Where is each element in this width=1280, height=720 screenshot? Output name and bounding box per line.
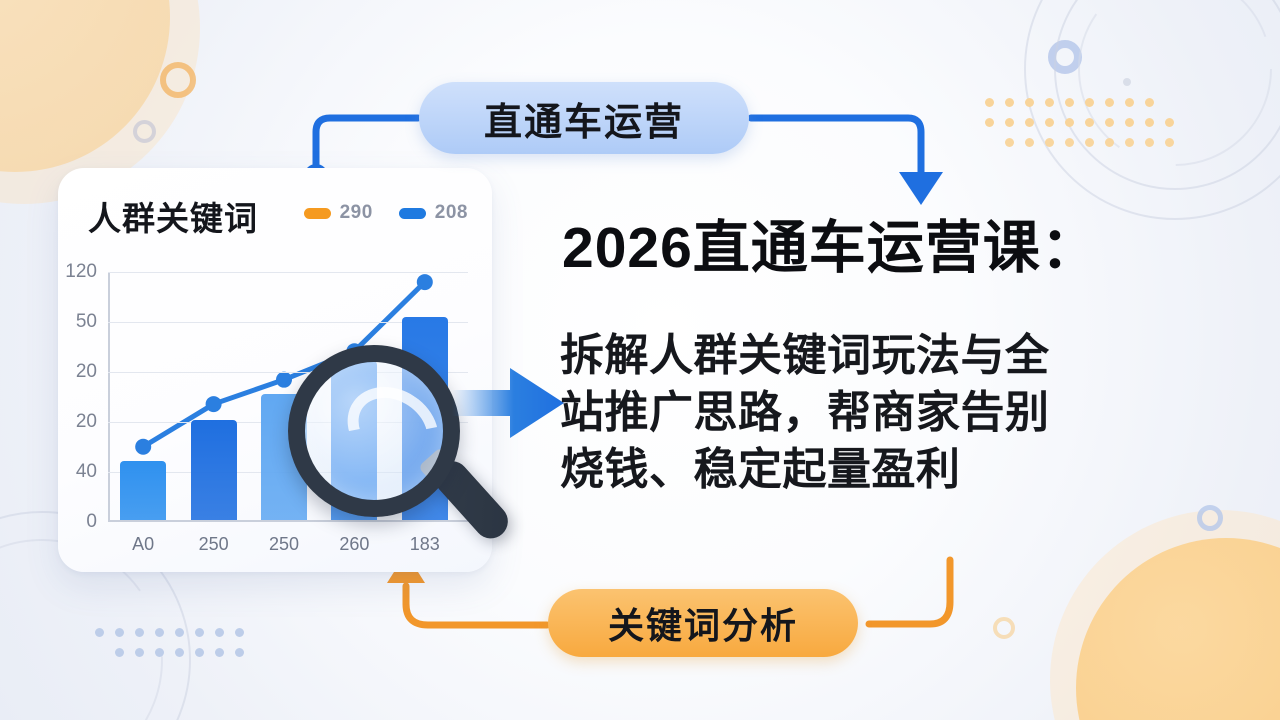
page-title: 2026直通车运营课： — [562, 218, 1252, 280]
x-axis-tick-label: 250 — [269, 534, 299, 555]
chart-bar — [191, 420, 237, 520]
legend-label-line: 290 — [340, 202, 373, 224]
page-subtitle-line: 烧钱、稳定起量盈利 — [560, 441, 1244, 498]
y-axis-tick-label: 50 — [76, 311, 97, 333]
legend-swatch-orange-icon — [304, 208, 331, 219]
grid-line — [108, 272, 468, 273]
legend-swatch-blue-icon — [399, 208, 426, 219]
badge-bottom[interactable]: 关键词分析 — [548, 589, 858, 657]
legend-item-line: 290 — [304, 202, 373, 224]
x-axis-tick-label: A0 — [132, 534, 154, 555]
line-data-point — [206, 396, 222, 412]
line-data-point — [417, 274, 433, 290]
magnifier-lens — [288, 345, 460, 517]
magnifier-glare — [331, 370, 454, 488]
y-axis-tick-label: 120 — [65, 261, 97, 283]
chart-title: 人群关键词 — [88, 192, 258, 240]
magnifier-icon — [288, 345, 478, 535]
x-axis-tick-label: 260 — [339, 534, 369, 555]
page-subtitle: 拆解人群关键词玩法与全站推广思路，帮商家告别烧钱、稳定起量盈利 — [560, 327, 1244, 499]
arrow-down-icon — [899, 172, 943, 205]
y-axis-tick-label: 0 — [86, 511, 97, 533]
y-axis-tick-label: 20 — [76, 361, 97, 383]
chart-legend: 290 208 — [304, 202, 468, 224]
badge-top[interactable]: 直通车运营 — [419, 82, 749, 154]
x-axis-tick-label: 250 — [199, 534, 229, 555]
legend-label-bar: 208 — [435, 202, 468, 224]
y-axis-tick-label: 20 — [76, 411, 97, 433]
arrow-right-icon — [452, 360, 570, 446]
x-axis-tick-label: 183 — [410, 534, 440, 555]
page-subtitle-line: 站推广思路，帮商家告别 — [560, 384, 1244, 441]
chart-bar — [120, 461, 166, 520]
page-subtitle-line: 拆解人群关键词玩法与全 — [560, 327, 1244, 384]
y-axis-tick-label: 40 — [76, 461, 97, 483]
line-data-point — [135, 439, 151, 455]
legend-item-bar: 208 — [399, 202, 468, 224]
